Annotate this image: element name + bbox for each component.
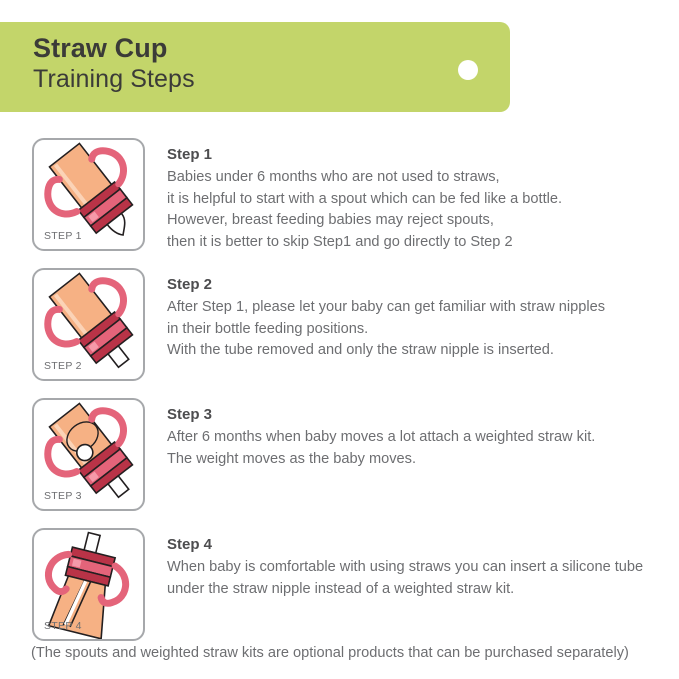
step-1-caption: STEP 1 [44, 230, 82, 242]
step-1-line: then it is better to skip Step1 and go d… [167, 232, 672, 254]
footer-note: (The spouts and weighted straw kits are … [31, 643, 629, 664]
page-subtitle: Training Steps [33, 64, 195, 95]
step-1-illustration: STEP 1 [32, 138, 145, 251]
step-row: STEP 1 Step 1 Babies under 6 months who … [0, 138, 679, 268]
header-banner: Straw Cup Training Steps [0, 22, 510, 112]
punch-hole-icon [458, 60, 478, 80]
step-2-title: Step 2 [167, 274, 672, 296]
step-2-line: After Step 1, please let your baby can g… [167, 297, 672, 319]
step-1-line: it is helpful to start with a spout whic… [167, 189, 672, 211]
step-row: STEP 2 Step 2 After Step 1, please let y… [0, 268, 679, 398]
banner-text-group: Straw Cup Training Steps [33, 32, 195, 95]
step-3-caption: STEP 3 [44, 490, 82, 502]
step-1-line: Babies under 6 months who are not used t… [167, 167, 672, 189]
steps-list: STEP 1 Step 1 Babies under 6 months who … [0, 138, 679, 648]
step-2-line: in their bottle feeding positions. [167, 319, 672, 341]
step-2-illustration: STEP 2 [32, 268, 145, 381]
step-3-illustration: STEP 3 [32, 398, 145, 511]
step-4-title: Step 4 [167, 534, 672, 556]
step-1-title: Step 1 [167, 144, 672, 166]
page-title: Straw Cup [33, 32, 195, 64]
step-4-line: under the straw nipple instead of a weig… [167, 579, 672, 601]
step-2-line: With the tube removed and only the straw… [167, 340, 672, 362]
step-4-line: When baby is comfortable with using stra… [167, 557, 672, 579]
step-3-line: After 6 months when baby moves a lot att… [167, 427, 672, 449]
step-3-title: Step 3 [167, 404, 672, 426]
step-1-line: However, breast feeding babies may rejec… [167, 210, 672, 232]
step-3-text: Step 3 After 6 months when baby moves a … [167, 404, 672, 470]
step-3-line: The weight moves as the baby moves. [167, 449, 672, 471]
step-row: STEP 3 Step 3 After 6 months when baby m… [0, 398, 679, 528]
step-2-text: Step 2 After Step 1, please let your bab… [167, 274, 672, 362]
step-2-caption: STEP 2 [44, 360, 82, 372]
step-1-text: Step 1 Babies under 6 months who are not… [167, 144, 672, 253]
step-4-caption: STEP 4 [44, 620, 82, 632]
step-row: STEP 4 Step 4 When baby is comfortable w… [0, 528, 679, 648]
step-4-illustration: STEP 4 [32, 528, 145, 641]
step-4-text: Step 4 When baby is comfortable with usi… [167, 534, 672, 600]
